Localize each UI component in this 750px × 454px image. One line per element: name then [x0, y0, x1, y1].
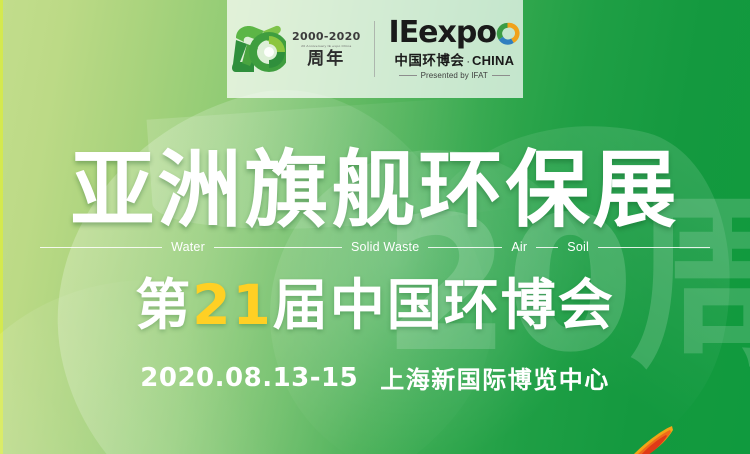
stream-labels-row: Water Solid Waste Air Soil — [65, 240, 685, 254]
stream-rule-2 — [428, 247, 502, 248]
stream-label-soil: Soil — [558, 240, 598, 254]
headline-title: 亚洲旗舰环保展 — [70, 148, 679, 232]
edition-suffix: 届中国环博会 — [273, 273, 615, 337]
stream-label-solid-waste: Solid Waste — [342, 240, 428, 254]
edition-prefix: 第 — [135, 273, 192, 337]
footer-info: 2020.08.13-15 上海新国际博览中心 — [140, 360, 609, 395]
event-venue: 上海新国际博览中心 — [380, 360, 610, 395]
stream-rule-3 — [536, 247, 558, 248]
stream-rule-1 — [214, 247, 342, 248]
event-date: 2020.08.13-15 — [140, 363, 358, 393]
event-banner: 20周年 2000-2020 20 Anniversary IE expo Ch… — [0, 0, 750, 454]
edition-title: 第21届中国环博会 — [135, 278, 615, 333]
stream-rule-lead — [40, 247, 162, 248]
stream-label-water: Water — [162, 240, 214, 254]
edition-number: 21 — [192, 273, 273, 337]
stream-rule-tail — [598, 247, 710, 248]
banner-content: 亚洲旗舰环保展 Water Solid Waste Air Soil 第21届中… — [0, 0, 750, 454]
stream-label-air: Air — [502, 240, 536, 254]
